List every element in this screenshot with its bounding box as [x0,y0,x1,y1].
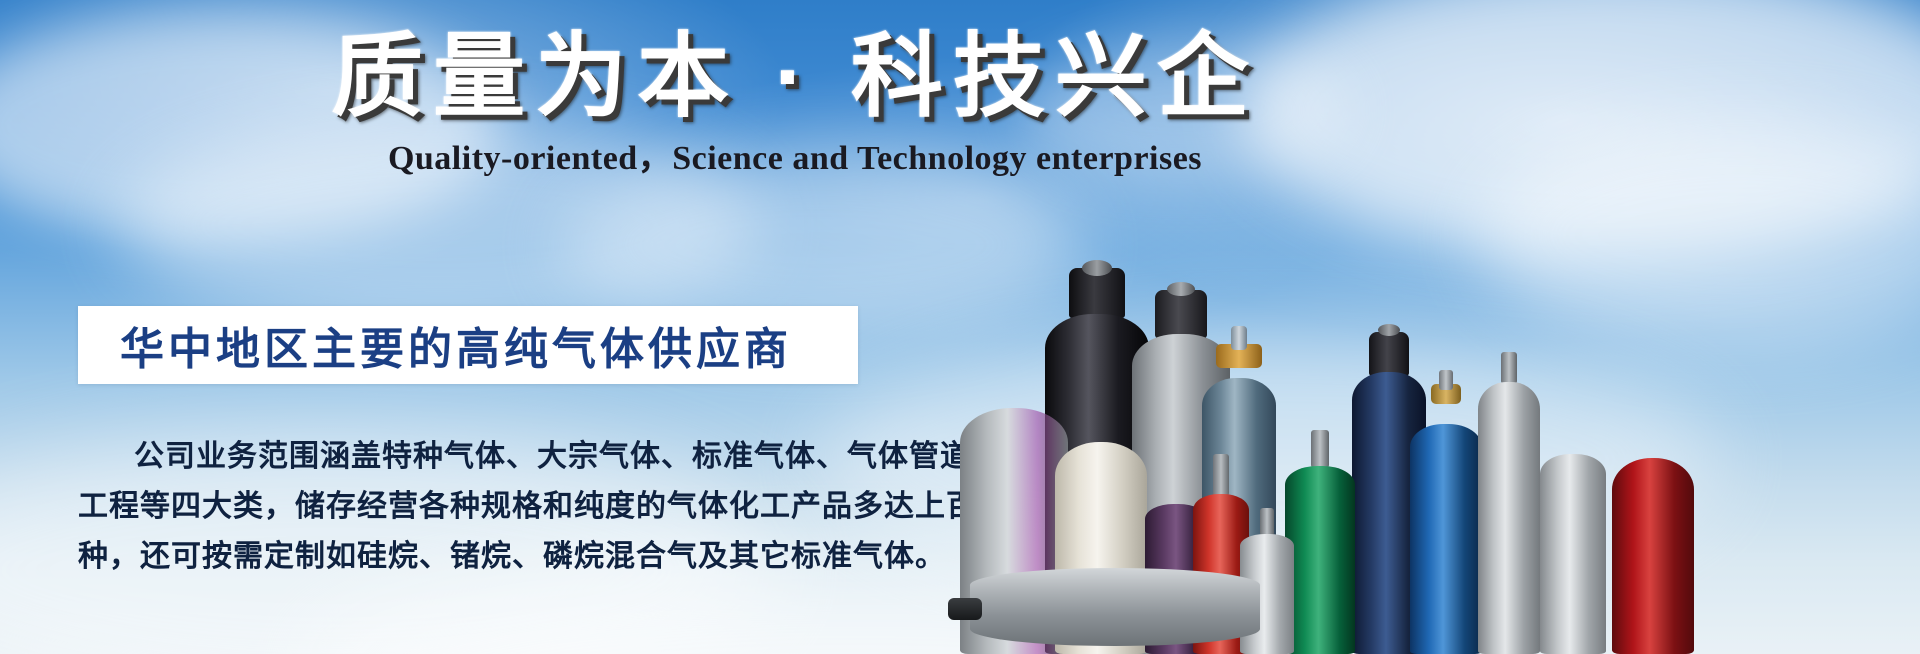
cylinder-horizontal-grey [970,568,1260,646]
description-paragraph: 公司业务范围涵盖特种气体、大宗气体、标准气体、气体管道 工程等四大类，储存经营各… [78,432,868,582]
cylinder-blue-bright [1410,424,1482,654]
description-line-2: 工程等四大类，储存经营各种规格和纯度的气体化工产品多达上百 [78,482,868,532]
gas-cylinder-array-photo [940,140,1920,654]
cylinder-green-mid [1285,466,1355,654]
cylinder-maroon [1612,458,1694,654]
cylinder-horizontal-valve [948,598,982,620]
description-line-3: 种，还可按需定制如硅烷、锗烷、磷烷混合气及其它标准气体。 [78,532,868,582]
headline-text: 华中地区主要的高纯气体供应商 [78,313,792,377]
headline-box: 华中地区主要的高纯气体供应商 [78,306,858,384]
banner-title: 质量为本 · 科技兴企 [330,18,1260,138]
cylinder-silver-mid [1540,454,1606,654]
cylinder-silver-tall [1478,382,1540,654]
promo-banner: 质量为本 · 科技兴企 Quality-oriented，Science and… [0,0,1920,654]
description-line-1: 公司业务范围涵盖特种气体、大宗气体、标准气体、气体管道 [78,432,868,482]
